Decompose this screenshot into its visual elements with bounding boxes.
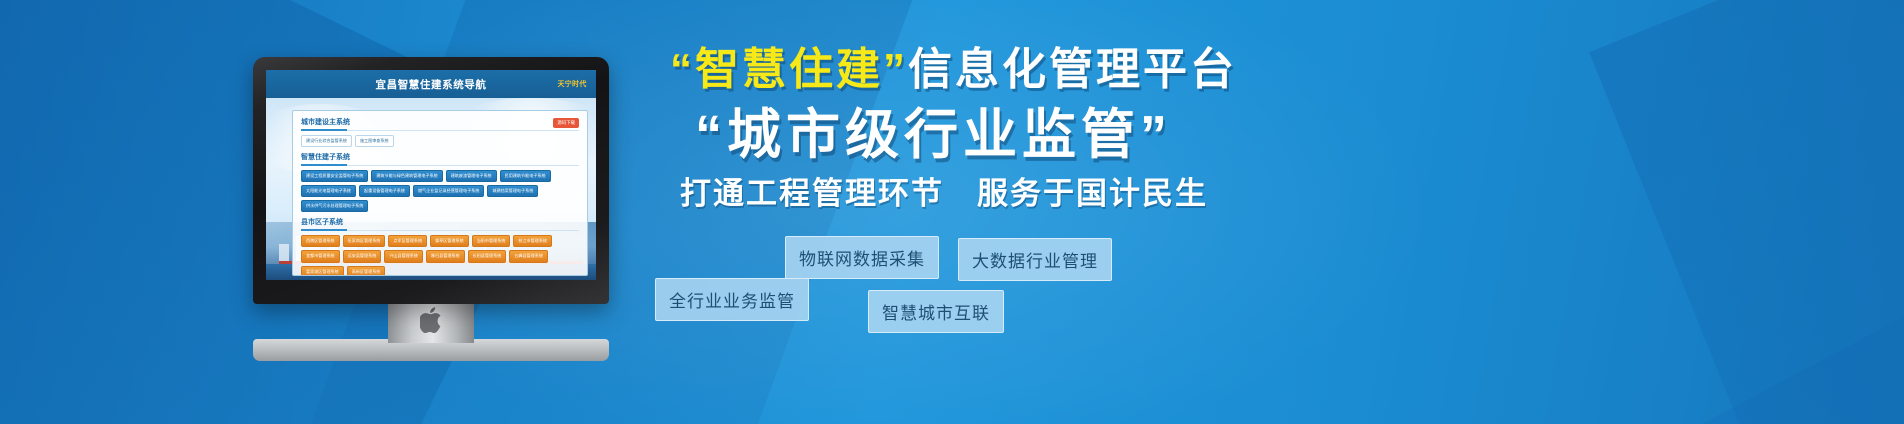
headline-primary-rest: 信息化管理平台 xyxy=(908,45,1237,94)
system-link[interactable]: 燃气企业监记录经营管理电子系统 xyxy=(413,185,484,197)
system-link[interactable]: 当阳市管理系统 xyxy=(472,235,511,247)
section-items-smart-housing: 建设工程质量安全监管电子系统 建筑节能与绿色建筑管理电子系统 建筑废渣管理电子系… xyxy=(301,170,579,212)
section-items-county-system: 西陵区管理系统 伍家岗区管理系统 点军区管理系统 猱亭区管理系统 当阳市管理系统… xyxy=(301,235,579,276)
system-link[interactable]: 猱亭区管理系统 xyxy=(430,235,469,247)
system-link[interactable]: 建筑废渣管理电子系统 xyxy=(446,170,497,182)
system-link[interactable]: 兴山县管理系统 xyxy=(384,250,423,262)
screen-header: 宜昌智慧住建系统导航 天宁时代 TIANNING TIMES xyxy=(266,70,596,98)
system-link[interactable]: 长阳县管理系统 xyxy=(468,250,507,262)
section-title-main-system: 城市建设主系统 xyxy=(301,117,579,131)
section-title-county-system: 县市区子系统 xyxy=(301,217,579,231)
skyline-block xyxy=(279,244,289,262)
brand-name-cn: 天宁时代 xyxy=(557,81,586,88)
section-items-main-system: 建设行业综合监管系统 施工图审查系统 xyxy=(301,135,579,147)
headline-tagline: 打通工程管理环节 服务于国计民生 xyxy=(680,178,1208,209)
system-nav-panel: 源码下载 城市建设主系统 建设行业综合监管系统 施工图审查系统 智慧住建子系统 … xyxy=(292,110,588,276)
promo-banner: 宜昌智慧住建系统导航 天宁时代 TIANNING TIMES xyxy=(0,0,1904,424)
feature-tag-bigdata-industry-management[interactable]: 大数据行业管理 xyxy=(958,238,1112,281)
section-title-smart-housing: 智慧住建子系统 xyxy=(301,152,579,166)
screen-header-title: 宜昌智慧住建系统导航 xyxy=(376,77,487,92)
system-link[interactable]: 高新区管理系统 xyxy=(347,266,386,276)
feature-tag-smart-city-interconnect[interactable]: 智慧城市互联 xyxy=(868,290,1004,333)
system-link[interactable]: 点军区管理系统 xyxy=(388,235,427,247)
system-link[interactable]: 五峰县管理系统 xyxy=(509,250,548,262)
system-link[interactable]: 枝江市管理系统 xyxy=(513,235,552,247)
headline-primary-quoted: “智慧住建” xyxy=(670,45,908,94)
banner-copy: “智慧住建”信息化管理平台 “城市级行业监管” 打通工程管理环节 服务于国计民生… xyxy=(640,0,1770,424)
monitor-mockup: 宜昌智慧住建系统导航 天宁时代 TIANNING TIMES xyxy=(253,57,609,304)
system-link[interactable]: 城建档案管理电子系统 xyxy=(487,185,538,197)
system-link[interactable]: 伍家岗区管理系统 xyxy=(343,235,386,247)
system-link[interactable]: 起重设备管理电子系统 xyxy=(359,185,410,197)
system-link[interactable]: 宜都市管理系统 xyxy=(301,250,340,262)
system-link[interactable]: 民用建筑节能电子系统 xyxy=(500,170,551,182)
feature-tag-iot-data-collection[interactable]: 物联网数据采集 xyxy=(785,236,939,279)
system-link[interactable]: 富家湖区管理系统 xyxy=(301,266,344,276)
headline-primary: “智慧住建”信息化管理平台 xyxy=(670,48,1237,92)
system-link[interactable]: 西陵区管理系统 xyxy=(301,235,340,247)
monitor-screen: 宜昌智慧住建系统导航 天宁时代 TIANNING TIMES xyxy=(266,70,596,280)
system-link[interactable]: 建设行业综合监管系统 xyxy=(301,135,352,147)
system-link[interactable]: 太阳能光电管理电子系统 xyxy=(301,185,356,197)
system-link[interactable]: 建设工程质量安全监管电子系统 xyxy=(301,170,368,182)
system-link[interactable]: 秭归县管理系统 xyxy=(426,250,465,262)
system-link[interactable]: 建筑节能与绿色建筑管理电子系统 xyxy=(371,170,442,182)
system-link[interactable]: 远安县管理系统 xyxy=(343,250,382,262)
feature-tag-all-industry-supervision[interactable]: 全行业业务监管 xyxy=(655,278,809,321)
monitor-bezel: 宜昌智慧住建系统导航 天宁时代 TIANNING TIMES xyxy=(253,57,609,304)
screen-body: 源码下载 城市建设主系统 建设行业综合监管系统 施工图审查系统 智慧住建子系统 … xyxy=(266,98,596,280)
system-link[interactable]: 施工图审查系统 xyxy=(355,135,394,147)
headline-secondary: “城市级行业监管” xyxy=(695,108,1172,162)
system-link[interactable]: 供水供气污水处理管理电子系统 xyxy=(301,200,368,212)
apple-logo-icon xyxy=(420,307,442,337)
